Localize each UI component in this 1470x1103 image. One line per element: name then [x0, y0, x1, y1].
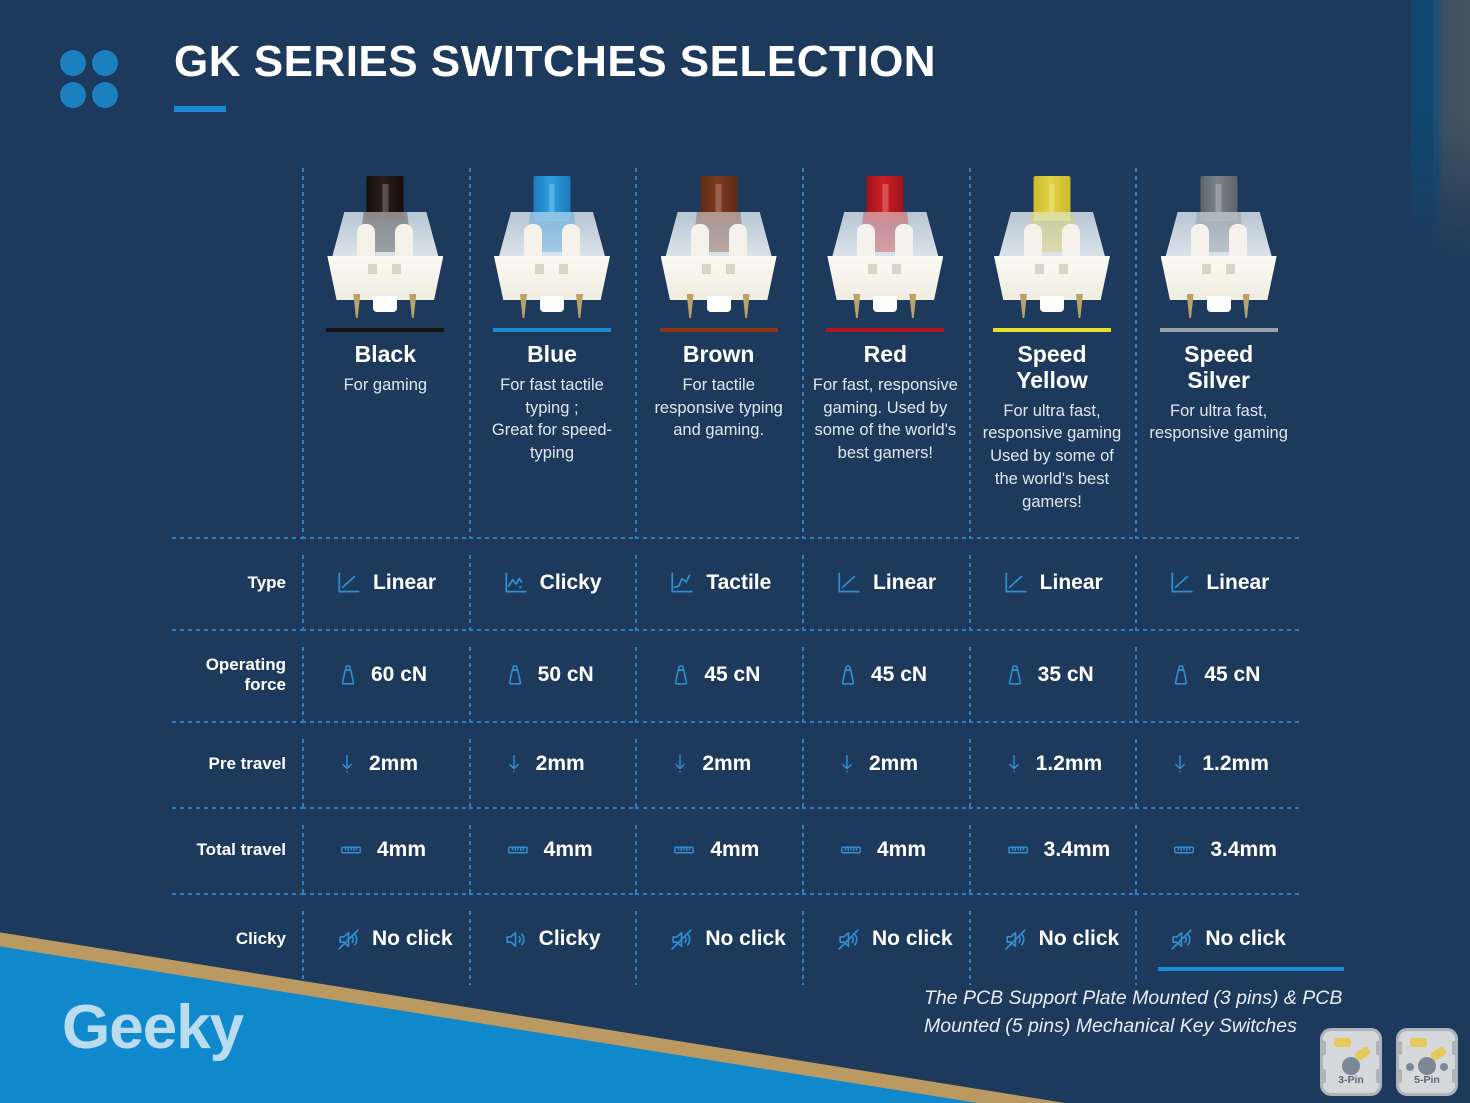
ruler-icon — [503, 839, 533, 861]
chip-nub — [1397, 1041, 1402, 1055]
spec-cell: 1.2mm — [969, 721, 1136, 807]
spec-value: 1.2mm — [1202, 752, 1269, 776]
row-separator — [802, 807, 969, 809]
switch-leaf — [857, 224, 875, 260]
row-separator — [802, 629, 969, 631]
row-label-text: Operatingforce — [206, 655, 286, 696]
switch-name: Red — [864, 342, 907, 368]
column-separator — [635, 168, 637, 537]
row-separator — [802, 721, 969, 723]
row-label-text: Type — [248, 573, 286, 593]
footer-note: The PCB Support Plate Mounted (3 pins) &… — [924, 985, 1344, 1040]
line-chart-icon — [336, 570, 362, 596]
logo-dot — [92, 50, 118, 76]
title-underline — [174, 106, 226, 112]
switch-description: For gaming — [344, 374, 427, 397]
switch-leaf — [395, 224, 413, 260]
switch-pin — [909, 294, 916, 318]
switch-illustration — [659, 168, 779, 318]
spec-value: Linear — [373, 571, 436, 595]
spec-value: 45 cN — [704, 663, 760, 687]
spec-value: 60 cN — [371, 663, 427, 687]
arrow-down-icon — [836, 751, 858, 777]
switch-pin — [409, 294, 416, 318]
switch-lower-housing — [994, 256, 1110, 300]
switch-leaf — [562, 224, 580, 260]
switch-leaf — [895, 224, 913, 260]
spec-value: 45 cN — [871, 663, 927, 687]
spec-cell: 2mm — [469, 721, 636, 807]
switch-center-post — [873, 296, 897, 312]
switch-center-post — [1207, 296, 1231, 312]
chip-gold-pad — [1410, 1038, 1427, 1047]
pin-type-icons: 3-Pin5-Pin — [1320, 1028, 1458, 1096]
switch-notch — [1035, 264, 1044, 274]
spec-value: Linear — [873, 571, 936, 595]
row-separator — [469, 629, 636, 631]
row-label-pre-travel: Pre travel — [172, 721, 302, 807]
switch-notch — [702, 264, 711, 274]
row-separator — [969, 721, 1136, 723]
spec-cell: Linear — [802, 537, 969, 629]
spec-cell: 4mm — [802, 807, 969, 893]
spec-value: 3.4mm — [1210, 838, 1277, 862]
column-separator — [469, 168, 471, 537]
spec-cell: 45 cN — [1135, 629, 1302, 721]
line-chart-icon — [1169, 570, 1195, 596]
switch-notch — [892, 264, 901, 274]
switch-illustration — [1159, 168, 1279, 318]
column-separator — [969, 739, 971, 807]
switch-pin — [687, 294, 694, 318]
four-dots-icon — [60, 50, 118, 108]
column-separator — [1135, 647, 1137, 721]
switch-notch — [1202, 264, 1211, 274]
switch-leaf — [357, 224, 375, 260]
row-separator — [635, 537, 802, 539]
switch-name: Brown — [683, 342, 755, 368]
column-separator — [1135, 739, 1137, 807]
switch-name: SpeedYellow — [1016, 342, 1088, 394]
spec-value: Tactile — [706, 571, 771, 595]
spec-cell: Clicky — [469, 537, 636, 629]
spec-value: Linear — [1206, 571, 1269, 595]
brand-logo: Geeky — [62, 992, 243, 1063]
weight-icon — [503, 662, 527, 688]
switch-illustration — [325, 168, 445, 318]
row-separator — [469, 807, 636, 809]
switch-notch — [1226, 264, 1235, 274]
row-separator — [302, 893, 469, 895]
row-separator — [802, 537, 969, 539]
column-separator — [802, 168, 804, 537]
page-header: GK SERIES SWITCHES SELECTION — [60, 40, 936, 112]
row-label-type: Type — [172, 537, 302, 629]
spec-value: 35 cN — [1038, 663, 1094, 687]
switch-pin — [743, 294, 750, 318]
switch-notch — [868, 264, 877, 274]
row-label-text: Total travel — [197, 840, 286, 860]
chip-gold-pad — [1334, 1038, 1351, 1047]
logo-dot — [60, 50, 86, 76]
row-separator — [1135, 893, 1302, 895]
spec-cell: 2mm — [802, 721, 969, 807]
ruler-icon — [1169, 839, 1199, 861]
switch-lower-housing — [827, 256, 943, 300]
spec-value: 50 cN — [538, 663, 594, 687]
row-separator — [635, 807, 802, 809]
column-separator — [969, 555, 971, 629]
switch-name-underline — [326, 328, 444, 332]
weight-icon — [836, 662, 860, 688]
arrow-down-icon — [1169, 751, 1191, 777]
spec-value: 3.4mm — [1044, 838, 1111, 862]
switch-leaf — [524, 224, 542, 260]
spec-cell: 50 cN — [469, 629, 636, 721]
spec-cell: 45 cN — [802, 629, 969, 721]
switch-leaf — [1191, 224, 1209, 260]
title-block: GK SERIES SWITCHES SELECTION — [174, 40, 936, 112]
row-separator — [469, 893, 636, 895]
switch-center-post — [707, 296, 731, 312]
switch-pin — [1187, 294, 1194, 318]
switch-illustration — [492, 168, 612, 318]
spec-cell: 3.4mm — [969, 807, 1136, 893]
line-chart-icon — [1003, 570, 1029, 596]
switch-illustration — [992, 168, 1112, 318]
column-separator — [635, 647, 637, 721]
chip-nub — [1376, 1041, 1381, 1055]
spec-cell: Tactile — [635, 537, 802, 629]
spec-value: 1.2mm — [1036, 752, 1103, 776]
row-separator — [635, 629, 802, 631]
row-separator — [172, 807, 302, 809]
switch-notch — [535, 264, 544, 274]
logo-dot — [60, 82, 86, 108]
chip-nub — [1321, 1041, 1326, 1055]
line-chart-icon — [669, 570, 695, 596]
column-separator — [1135, 825, 1137, 893]
spec-value: 4mm — [377, 838, 426, 862]
row-separator — [172, 629, 302, 631]
switch-leaf — [1229, 224, 1247, 260]
switch-lower-housing — [327, 256, 443, 300]
weight-icon — [1169, 662, 1193, 688]
row-separator — [172, 893, 302, 895]
column-separator — [635, 825, 637, 893]
column-separator — [969, 647, 971, 721]
row-separator — [969, 807, 1136, 809]
column-separator — [302, 647, 304, 721]
column-separator — [802, 739, 804, 807]
switch-leaf — [1024, 224, 1042, 260]
switch-pin — [1243, 294, 1250, 318]
switch-name-underline — [1160, 328, 1278, 332]
column-separator — [802, 825, 804, 893]
spec-value: 2mm — [369, 752, 418, 776]
row-separator — [469, 721, 636, 723]
spec-cell: 4mm — [635, 807, 802, 893]
row-separator — [172, 537, 302, 539]
spec-cell: 2mm — [635, 721, 802, 807]
switch-column-red[interactable]: RedFor fast, responsive gaming. Used by … — [802, 150, 969, 537]
spec-value: Linear — [1040, 571, 1103, 595]
row-separator — [969, 629, 1136, 631]
spec-cell: 45 cN — [635, 629, 802, 721]
switch-name-underline — [660, 328, 778, 332]
spec-cell: 60 cN — [302, 629, 469, 721]
chip-small-hole — [1440, 1063, 1448, 1071]
switch-name-underline — [993, 328, 1111, 332]
ruler-icon — [836, 839, 866, 861]
switch-name: SpeedSilver — [1184, 342, 1253, 394]
row-separator — [1135, 629, 1302, 631]
column-separator — [802, 647, 804, 721]
row-separator — [172, 721, 302, 723]
switch-column-brown[interactable]: BrownFor tactile responsive typing and g… — [635, 150, 802, 537]
spec-cell: 1.2mm — [1135, 721, 1302, 807]
switch-lower-housing — [494, 256, 610, 300]
spec-value: 2mm — [702, 752, 751, 776]
switch-notch — [368, 264, 377, 274]
switch-lower-housing — [661, 256, 777, 300]
column-separator — [469, 739, 471, 807]
logo-dot — [92, 82, 118, 108]
column-separator — [969, 168, 971, 537]
switch-pin — [1020, 294, 1027, 318]
row-separator — [302, 807, 469, 809]
row-label-operating-force: Operatingforce — [172, 629, 302, 721]
switch-notch — [1059, 264, 1068, 274]
switch-center-post — [1040, 296, 1064, 312]
chip-label: 3-Pin — [1323, 1074, 1379, 1086]
switch-notch — [726, 264, 735, 274]
spec-value: 4mm — [710, 838, 759, 862]
row-separator — [635, 893, 802, 895]
arrow-down-icon — [1003, 751, 1025, 777]
table-corner — [172, 150, 302, 537]
column-separator — [1135, 168, 1137, 537]
column-separator — [302, 555, 304, 629]
spec-value: 2mm — [869, 752, 918, 776]
switch-column-speed-yellow[interactable]: SpeedYellowFor ultra fast, responsive ga… — [969, 150, 1136, 537]
arrow-down-icon — [336, 751, 358, 777]
switch-pin — [520, 294, 527, 318]
switch-leaf — [1062, 224, 1080, 260]
spec-value: 4mm — [877, 838, 926, 862]
row-separator — [969, 893, 1136, 895]
column-separator — [635, 739, 637, 807]
switch-lower-housing — [1161, 256, 1277, 300]
switch-name: Blue — [527, 342, 577, 368]
switch-notch — [392, 264, 401, 274]
row-separator — [469, 537, 636, 539]
spec-cell: Linear — [1135, 537, 1302, 629]
row-separator — [635, 721, 802, 723]
column-separator — [302, 739, 304, 807]
spec-cell: 3.4mm — [1135, 807, 1302, 893]
row-separator — [302, 721, 469, 723]
row-separator — [802, 893, 969, 895]
spec-cell: Linear — [969, 537, 1136, 629]
switch-column-black[interactable]: BlackFor gaming — [302, 150, 469, 537]
weight-icon — [336, 662, 360, 688]
chip-center-hole — [1342, 1057, 1360, 1075]
spec-cell: 2mm — [302, 721, 469, 807]
chip-nub — [1452, 1041, 1457, 1055]
switch-center-post — [373, 296, 397, 312]
ruler-icon — [336, 839, 366, 861]
spec-value: Clicky — [540, 571, 602, 595]
line-chart-icon — [836, 570, 862, 596]
column-separator — [969, 825, 971, 893]
row-separator — [1135, 537, 1302, 539]
switch-illustration — [825, 168, 945, 318]
row-separator — [1135, 721, 1302, 723]
switch-description: For fast, responsive gaming. Used by som… — [810, 374, 960, 465]
switch-pin — [353, 294, 360, 318]
page-title: GK SERIES SWITCHES SELECTION — [174, 40, 936, 84]
spec-value: 4mm — [544, 838, 593, 862]
switch-description: For ultra fast, responsive gaming Used b… — [977, 400, 1127, 514]
column-separator — [302, 168, 304, 537]
column-separator — [469, 555, 471, 629]
weight-icon — [1003, 662, 1027, 688]
arrow-down-icon — [503, 751, 525, 777]
column-separator — [469, 647, 471, 721]
spec-cell: 4mm — [469, 807, 636, 893]
switch-name-underline — [826, 328, 944, 332]
switch-column-speed-silver[interactable]: SpeedSilverFor ultra fast, responsive ga… — [1135, 150, 1302, 537]
ruler-icon — [1003, 839, 1033, 861]
arrow-down-icon — [669, 751, 691, 777]
column-separator — [469, 825, 471, 893]
switch-pin — [576, 294, 583, 318]
switch-pin — [853, 294, 860, 318]
top-accent-stripe — [1400, 0, 1470, 260]
spec-cell: Linear — [302, 537, 469, 629]
spec-value: 2mm — [536, 752, 585, 776]
row-separator — [1135, 807, 1302, 809]
weight-icon — [669, 662, 693, 688]
switch-notch — [559, 264, 568, 274]
switch-comparison-table: BlackFor gamingBlueFor fast tactile typi… — [172, 150, 1302, 985]
switch-leaf — [691, 224, 709, 260]
chip-label: 5-Pin — [1399, 1074, 1455, 1086]
switch-pin — [1076, 294, 1083, 318]
line-chart-icon — [503, 570, 529, 596]
switch-description: For ultra fast, responsive gaming — [1144, 400, 1294, 446]
spec-cell: 4mm — [302, 807, 469, 893]
column-separator — [802, 555, 804, 629]
chip-center-hole — [1418, 1057, 1436, 1075]
switch-name: Black — [355, 342, 416, 368]
row-label-text: Pre travel — [209, 754, 287, 774]
switch-description: For fast tactile typing ;Great for speed… — [477, 374, 627, 465]
pin-chip-3-pin: 3-Pin — [1320, 1028, 1382, 1096]
switch-leaf — [729, 224, 747, 260]
ruler-icon — [669, 839, 699, 861]
switch-column-blue[interactable]: BlueFor fast tactile typing ;Great for s… — [469, 150, 636, 537]
row-separator — [302, 629, 469, 631]
switch-name-underline — [493, 328, 611, 332]
column-separator — [635, 555, 637, 629]
row-separator — [969, 537, 1136, 539]
spec-value: 45 cN — [1204, 663, 1260, 687]
switch-description: For tactile responsive typing and gaming… — [644, 374, 794, 442]
pin-chip-5-pin: 5-Pin — [1396, 1028, 1458, 1096]
chip-small-hole — [1406, 1063, 1414, 1071]
switch-center-post — [540, 296, 564, 312]
column-separator — [1135, 555, 1137, 629]
row-separator — [302, 537, 469, 539]
spec-cell: 35 cN — [969, 629, 1136, 721]
row-label-total-travel: Total travel — [172, 807, 302, 893]
footer-divider — [1158, 967, 1344, 971]
column-separator — [302, 825, 304, 893]
